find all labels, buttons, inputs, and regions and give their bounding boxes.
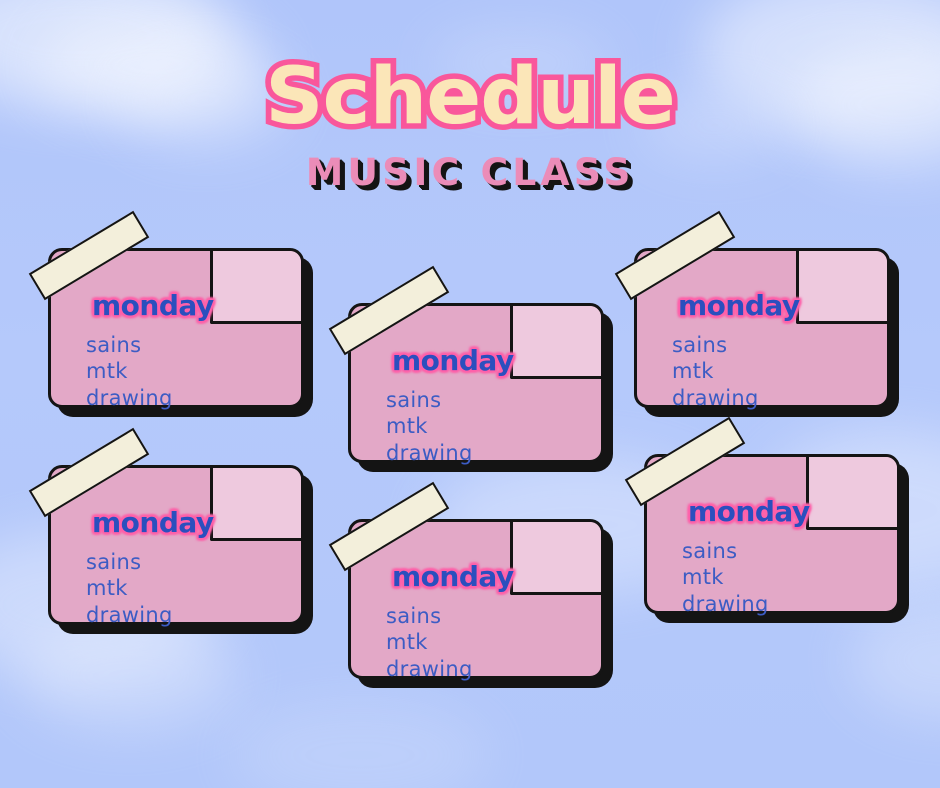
card-subject-item: mtk — [386, 413, 473, 439]
schedule-card[interactable]: mondaysainsmtkdrawing — [634, 248, 890, 408]
card-day-label: monday — [92, 292, 214, 320]
card-day-label: monday — [92, 509, 214, 537]
page-title: Schedule — [265, 58, 675, 136]
folded-corner-icon — [210, 465, 304, 541]
card-subject-item: drawing — [682, 591, 769, 617]
card-day-label: monday — [392, 563, 514, 591]
card-subject-item: sains — [386, 387, 473, 413]
card-subject-list: sainsmtkdrawing — [386, 603, 473, 682]
card-subject-item: sains — [86, 332, 173, 358]
schedule-card[interactable]: mondaysainsmtkdrawing — [348, 303, 604, 463]
page-subtitle: MUSIC CLASS — [306, 154, 635, 191]
card-day-label: monday — [688, 498, 810, 526]
folded-corner-icon — [510, 303, 604, 379]
schedule-card[interactable]: mondaysainsmtkdrawing — [348, 519, 604, 679]
card-subject-item: sains — [386, 603, 473, 629]
card-subject-item: drawing — [386, 656, 473, 682]
card-subject-item: mtk — [86, 575, 173, 601]
card-subject-list: sainsmtkdrawing — [672, 332, 759, 411]
card-subject-item: mtk — [86, 358, 173, 384]
folded-corner-icon — [510, 519, 604, 595]
card-day-label: monday — [678, 292, 800, 320]
card-subject-item: sains — [672, 332, 759, 358]
card-subject-list: sainsmtkdrawing — [86, 332, 173, 411]
header: Schedule MUSIC CLASS — [0, 58, 940, 191]
card-subject-item: sains — [86, 549, 173, 575]
card-day-label: monday — [392, 347, 514, 375]
card-subject-item: mtk — [682, 564, 769, 590]
poster-canvas: Schedule MUSIC CLASS mondaysainsmtkdrawi… — [0, 0, 940, 788]
card-subject-item: sains — [682, 538, 769, 564]
schedule-card[interactable]: mondaysainsmtkdrawing — [48, 465, 304, 625]
card-subject-list: sainsmtkdrawing — [386, 387, 473, 466]
card-subject-list: sainsmtkdrawing — [682, 538, 769, 617]
card-subject-item: mtk — [672, 358, 759, 384]
card-subject-item: drawing — [386, 440, 473, 466]
schedule-card[interactable]: mondaysainsmtkdrawing — [644, 454, 900, 614]
card-subject-item: drawing — [86, 385, 173, 411]
folded-corner-icon — [806, 454, 900, 530]
card-subject-item: mtk — [386, 629, 473, 655]
card-subject-list: sainsmtkdrawing — [86, 549, 173, 628]
folded-corner-icon — [210, 248, 304, 324]
schedule-card[interactable]: mondaysainsmtkdrawing — [48, 248, 304, 408]
card-subject-item: drawing — [672, 385, 759, 411]
card-subject-item: drawing — [86, 602, 173, 628]
folded-corner-icon — [796, 248, 890, 324]
